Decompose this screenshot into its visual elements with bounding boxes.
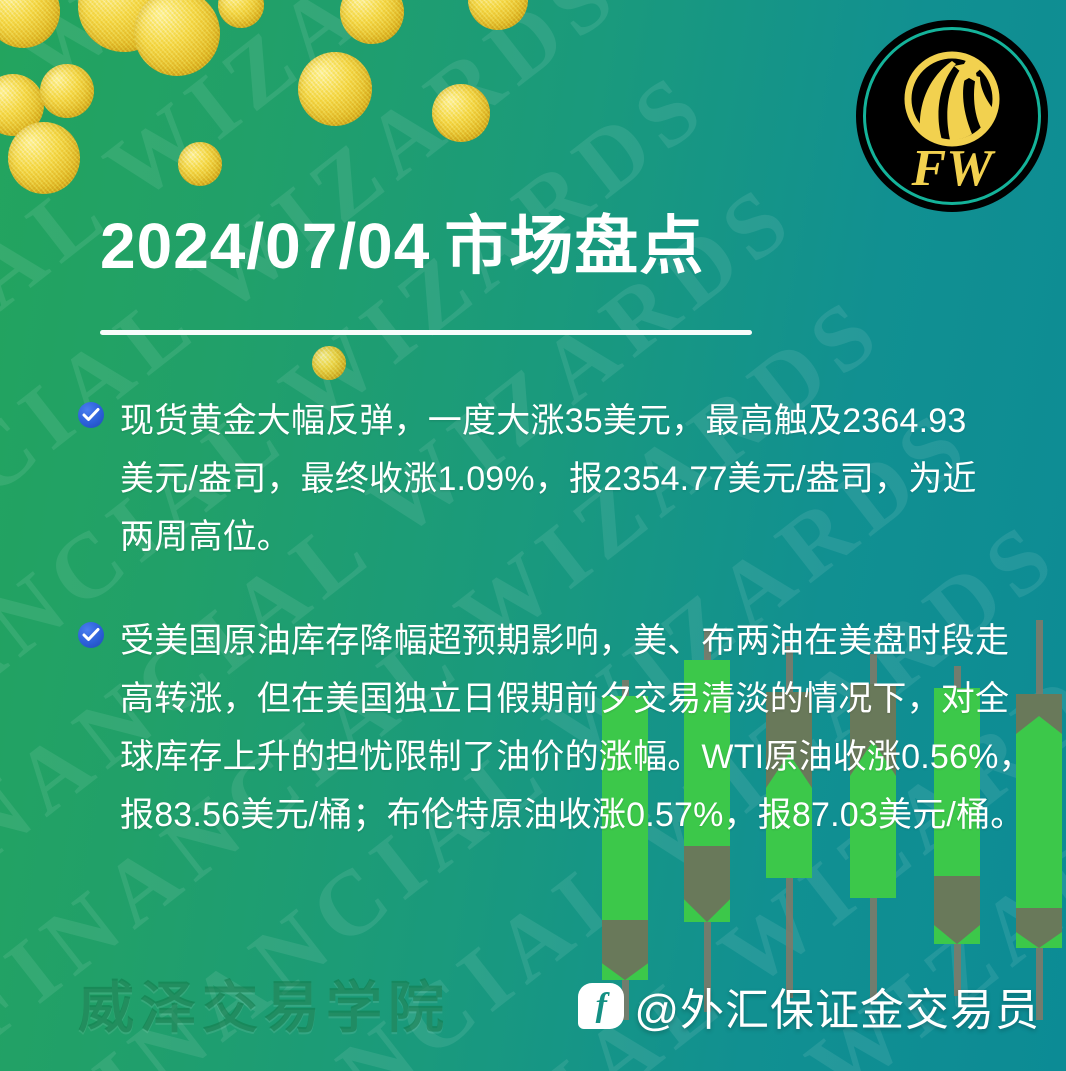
bullet-text: 现货黄金大幅反弹，一度大涨35美元，最高触及2364.93美元/盎司，最终收涨1… — [120, 392, 998, 566]
handle-text: @外汇保证金交易员 — [634, 974, 1040, 1038]
title-divider — [100, 330, 752, 335]
gold-dot — [0, 0, 60, 48]
gold-dot — [298, 52, 372, 126]
gold-dot — [218, 0, 264, 28]
gold-dot — [312, 346, 346, 380]
candle-shadow — [1016, 908, 1062, 948]
check-glyph — [82, 407, 100, 423]
logo-initials: FW — [911, 140, 997, 197]
title-text: 市场盘点 — [444, 210, 704, 282]
bullet-text: 受美国原油库存降幅超预期影响，美、布两油在美盘时段走高转涨，但在美国独立日假期前… — [120, 612, 1038, 844]
page-title: 2024/07/04市场盘点 — [100, 212, 704, 281]
gold-dot — [8, 122, 80, 194]
gold-dot — [178, 142, 222, 186]
gold-dot — [432, 84, 490, 142]
facebook-icon[interactable]: f — [578, 983, 624, 1029]
gold-dot — [40, 64, 94, 118]
check-glyph — [82, 627, 100, 643]
gold-dot — [468, 0, 528, 30]
candle-shadow — [684, 846, 730, 922]
market-recap-poster: FINANCIAL WIZARDS FINANCIAL WIZARDS FINA… — [0, 0, 1066, 1071]
list-item: 现货黄金大幅反弹，一度大涨35美元，最高触及2364.93美元/盎司，最终收涨1… — [78, 392, 998, 566]
brand-watermark: 威泽交易学院 — [78, 963, 450, 1044]
gold-dot — [134, 0, 220, 76]
social-handle: f @外汇保证金交易员 — [578, 974, 1040, 1038]
candle-shadow — [934, 876, 980, 944]
list-item: 受美国原油库存降幅超预期影响，美、布两油在美盘时段走高转涨，但在美国独立日假期前… — [78, 612, 1038, 844]
fw-logo: FW — [856, 20, 1048, 212]
facebook-glyph: f — [578, 989, 624, 1023]
gold-dot — [340, 0, 404, 44]
check-circle-icon — [78, 402, 104, 428]
check-circle-icon — [78, 622, 104, 648]
candle-shadow — [602, 920, 648, 980]
logo-emblem-icon: FW — [856, 20, 1048, 212]
title-date: 2024/07/04 — [100, 210, 430, 282]
